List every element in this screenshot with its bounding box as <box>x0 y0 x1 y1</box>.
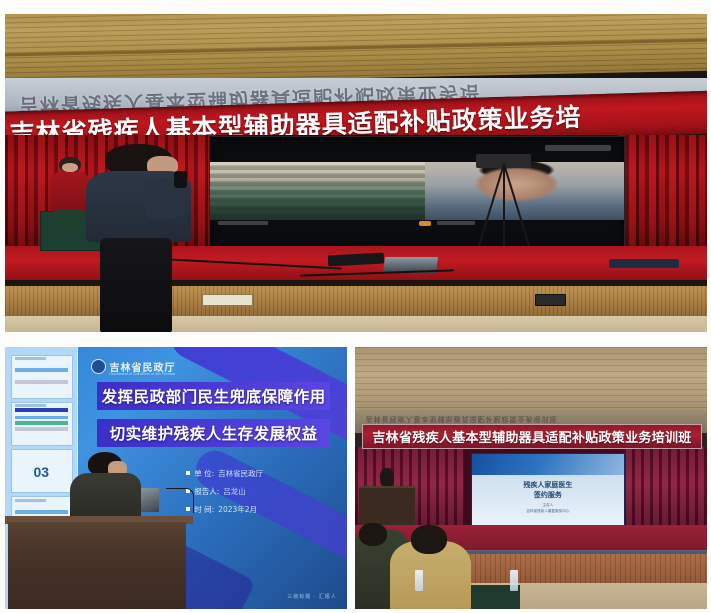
bullet-icon <box>186 471 190 475</box>
projected-slide-title-line-2: 签约服务 <box>472 490 623 501</box>
metadata-row: 单 位: 吉林省民政厅 <box>186 468 336 479</box>
stage-banner: 吉林省残疾人基本型辅助器具适配补贴政策业务培训班 <box>362 424 702 448</box>
video-conference-panels <box>210 162 624 220</box>
led-display-screen <box>209 136 625 249</box>
thumbnail-content-row <box>15 510 68 514</box>
projected-slide-title: 残疾人家庭医生 签约服务 <box>472 480 623 501</box>
curtain-right <box>616 135 707 262</box>
metadata-value: 2023年2月 <box>218 504 257 515</box>
metadata-label: 时 间: <box>194 504 214 515</box>
thumbnail-content-row <box>15 427 68 431</box>
slide-number-label: 03 <box>33 464 49 480</box>
slide-thumbnail-section-number[interactable]: 03 <box>11 449 73 493</box>
tripod-leg <box>503 163 534 259</box>
stage-banner-text: 吉林省残疾人基本型辅助器具适配补贴政策业务培训班 <box>372 427 691 446</box>
slide-footer-text: 三级标题 · 汇报人 <box>287 593 336 600</box>
foreground-speaker-with-microphone <box>86 144 191 332</box>
thumbnail-content-row <box>15 380 68 384</box>
slide-title-line-1: 发挥民政部门民生兜底保障作用 <box>97 382 330 410</box>
projected-slide-subtitle: 主讲人 吉林省残疾人康复服务中心 <box>472 503 623 515</box>
microphone-icon <box>174 171 187 188</box>
tripod-leg <box>474 163 505 259</box>
head <box>359 523 387 547</box>
photo-bottom-left-presenter-slide: 03 吉林省民政厅 Department of Civil Affairs of… <box>5 347 347 609</box>
metadata-label: 报告人: <box>194 486 219 497</box>
vc-panel-conference-hall <box>210 162 425 220</box>
thumbnail-content-row <box>15 421 68 425</box>
thumbnail-caption-bar <box>15 404 45 407</box>
folder-on-stage <box>609 259 679 269</box>
ceiling-wood-panels <box>355 347 707 415</box>
slide-title-line-2: 切实维护残疾人生存发展权益 <box>97 419 330 447</box>
organization-logo: 吉林省民政厅 Department of Civil Affairs of Ji… <box>91 359 176 374</box>
vc-name-label-left <box>218 221 268 225</box>
wooden-podium <box>8 520 186 609</box>
thumbnail-content-row <box>15 368 68 372</box>
gooseneck-microphone <box>166 488 194 513</box>
slide-metadata-list: 单 位: 吉林省民政厅 报告人: 吕龙山 时 间: 2023年2月 <box>186 468 336 522</box>
thumbnail-header-band <box>15 408 68 412</box>
wall-outlet <box>202 294 253 306</box>
photo-top-stage-led-screen: 吉林省残疾人基本型辅助器具适配补贴政策业务培 吉林省残疾人基本型辅助器具适配补贴… <box>5 14 707 332</box>
trousers <box>100 238 172 332</box>
skirt <box>54 210 85 232</box>
projection-screen: 残疾人家庭医生 签约服务 主讲人 吉林省残疾人康复服务中心 <box>471 453 624 526</box>
logo-subtext: Department of Civil Affairs of Jilin Pro… <box>110 372 176 376</box>
government-seal-icon <box>91 359 106 374</box>
vc-meeting-tag <box>545 145 611 151</box>
banner-reflection-text: 吉林省残疾人基本型辅助器具适配补贴政策业务培训班 <box>366 411 697 424</box>
metadata-row: 报告人: 吕龙山 <box>186 486 336 497</box>
thumbnail-content-row <box>15 416 68 420</box>
metadata-label: 单 位: <box>194 468 214 479</box>
metadata-row: 时 间: 2023年2月 <box>186 504 336 515</box>
side-table <box>359 486 415 527</box>
projected-slide-subtitle-line-2: 吉林省残疾人康复服务中心 <box>472 509 623 515</box>
slide-header-band <box>472 454 623 475</box>
presenter-in-red <box>51 157 90 230</box>
metadata-value: 吕龙山 <box>223 486 246 497</box>
red-jacket <box>51 172 90 213</box>
thumbnail-caption-bar <box>15 357 45 360</box>
head <box>411 525 446 554</box>
curtain-right <box>623 447 707 528</box>
photo-bottom-right-auditorium: 吉林省残疾人基本型辅助器具适配补贴政策业务培训班 吉林省残疾人基本型辅助器具适配… <box>355 347 707 609</box>
photo-collage: 吉林省残疾人基本型辅助器具适配补贴政策业务培 吉林省残疾人基本型辅助器具适配补贴… <box>0 0 711 613</box>
control-panel <box>535 294 566 306</box>
water-bottle <box>415 570 423 591</box>
water-bottle <box>510 570 518 591</box>
metadata-value: 吉林省民政厅 <box>218 468 263 479</box>
slide-thumbnail[interactable] <box>11 402 73 446</box>
projected-slide-title-line-1: 残疾人家庭医生 <box>472 480 623 491</box>
thumbnail-caption-bar <box>15 499 45 502</box>
slide-thumbnail[interactable] <box>11 355 73 399</box>
vc-status-icon <box>419 221 431 227</box>
